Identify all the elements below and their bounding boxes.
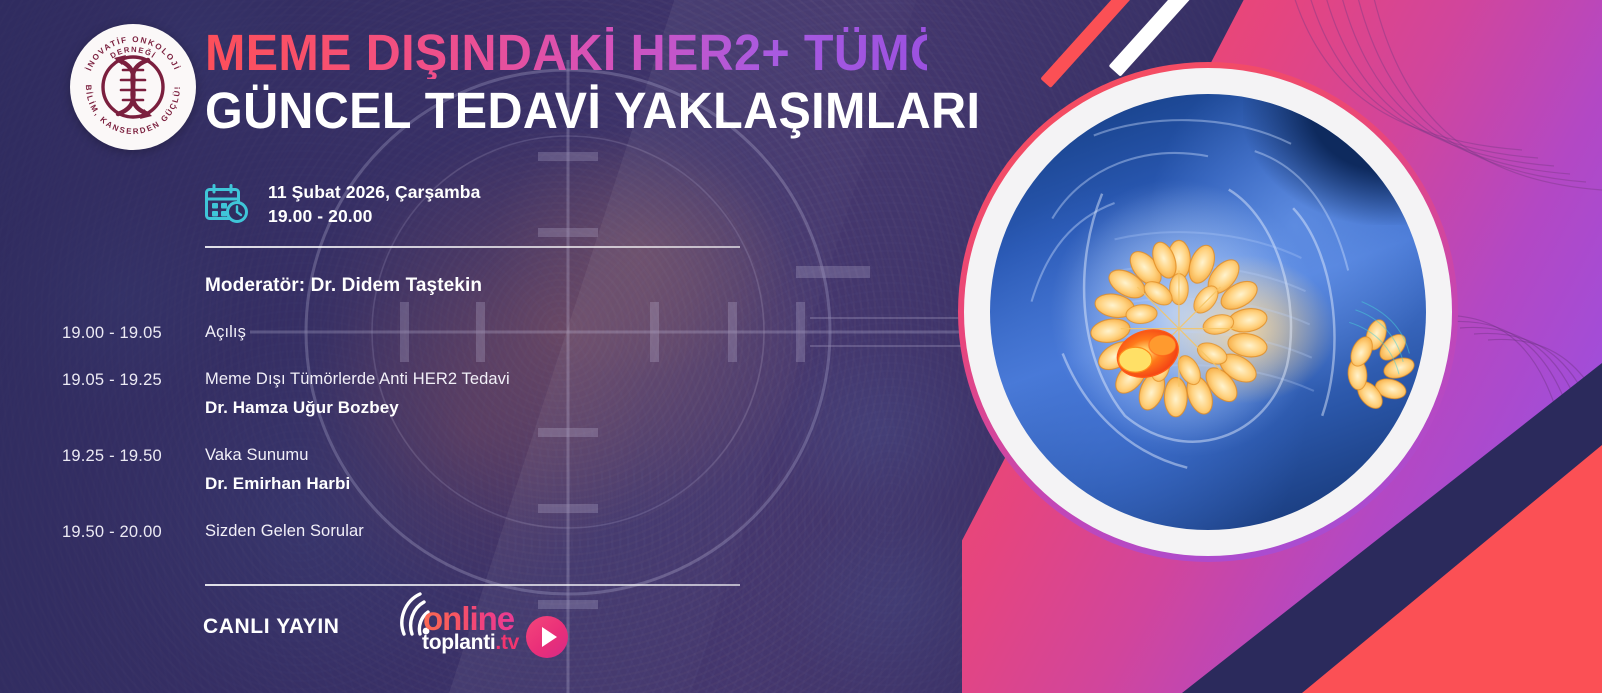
program-speaker: Dr. Hamza Uğur Bozbey (205, 395, 762, 421)
calendar-clock-icon (204, 182, 250, 226)
program-time: 19.05 - 19.25 (62, 367, 205, 392)
live-broadcast-label: CANLI YAYIN (203, 615, 340, 639)
title-line-2: GÜNCEL TEDAVİ YAKLAŞIMLARI (205, 85, 927, 137)
breast-anatomy-illustration (990, 94, 1426, 530)
brand-toplanti-word: toplanti (422, 631, 495, 654)
play-icon[interactable] (526, 616, 568, 658)
program-schedule: 19.00 - 19.05 Açılış 19.05 - 19.25 Meme … (62, 320, 762, 544)
program-topic: Vaka Sunumu (205, 443, 762, 467)
anatomy-overlay (990, 94, 1426, 530)
circle-white-ring (964, 68, 1452, 556)
program-topic: Sizden Gelen Sorular (205, 519, 762, 543)
event-datetime-text: 11 Şubat 2026, Çarşamba 19.00 - 20.00 (268, 180, 480, 228)
brand-tv-word: .tv (495, 631, 519, 654)
inovatif-onkoloji-dernegi-seal-icon: İNOVATİF ONKOLOJİ DERNEĞİ BİLİM, KANSERD… (70, 24, 196, 150)
page-title: MEME DIŞINDAKİ HER2+ TÜMÖRLERE GÜNCEL TE… (205, 27, 965, 137)
program-body: Meme Dışı Tümörlerde Anti HER2 Tedavi Dr… (205, 367, 762, 421)
webinar-banner: İNOVATİF ONKOLOJİ DERNEĞİ BİLİM, KANSERD… (0, 0, 1602, 693)
program-row: 19.05 - 19.25 Meme Dışı Tümörlerde Anti … (62, 367, 762, 421)
program-time: 19.25 - 19.50 (62, 443, 205, 468)
program-speaker: Dr. Emirhan Harbi (205, 471, 762, 497)
program-time: 19.00 - 19.05 (62, 320, 205, 345)
program-body: Açılış (205, 320, 762, 344)
event-datetime: 11 Şubat 2026, Çarşamba 19.00 - 20.00 (204, 180, 480, 228)
onlinetoplanti-logo[interactable]: online toplanti.tv (395, 592, 565, 656)
medical-image-circle (958, 62, 1458, 562)
program-row: 19.50 - 20.00 Sizden Gelen Sorular (62, 519, 762, 544)
program-body: Sizden Gelen Sorular (205, 519, 762, 543)
event-time: 19.00 - 20.00 (268, 206, 372, 226)
association-logo: İNOVATİF ONKOLOJİ DERNEĞİ BİLİM, KANSERD… (70, 24, 196, 150)
divider-top (205, 246, 740, 248)
moderator-label: Moderatör: Dr. Didem Taştekin (205, 275, 482, 297)
program-body: Vaka Sunumu Dr. Emirhan Harbi (205, 443, 762, 497)
program-topic: Açılış (205, 320, 762, 344)
program-topic: Meme Dışı Tümörlerde Anti HER2 Tedavi (205, 367, 762, 391)
divider-bottom (205, 584, 740, 586)
program-row: 19.25 - 19.50 Vaka Sunumu Dr. Emirhan Ha… (62, 443, 762, 497)
program-time: 19.50 - 20.00 (62, 519, 205, 544)
event-date: 11 Şubat 2026, Çarşamba (268, 182, 480, 202)
title-line-1: MEME DIŞINDAKİ HER2+ TÜMÖRLERE (205, 27, 927, 79)
brand-toplanti-text: toplanti.tv (422, 632, 519, 653)
program-row: 19.00 - 19.05 Açılış (62, 320, 762, 345)
